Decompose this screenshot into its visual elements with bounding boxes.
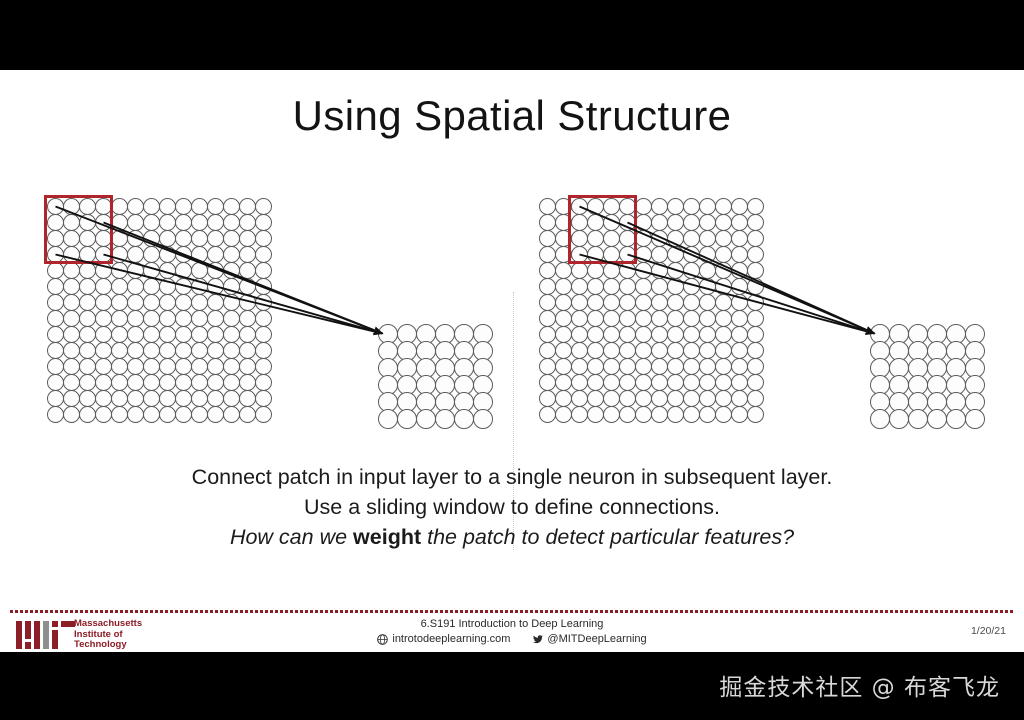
- slide-date: 1/20/21: [971, 625, 1006, 637]
- slide-canvas: Using Spatial Structure Connect patch in…: [0, 70, 1024, 652]
- diagram-area: [0, 180, 1024, 450]
- caption-line-3-post: the patch to detect particular features?: [421, 525, 794, 549]
- connection-arrows: [0, 180, 1024, 450]
- watermark: 掘金技术社区 @ 布客飞龙: [719, 668, 1000, 702]
- connection-arrow: [56, 255, 383, 334]
- globe-icon: [377, 634, 388, 645]
- website-link[interactable]: introtodeeplearning.com: [377, 632, 510, 647]
- connection-arrow: [104, 223, 383, 334]
- slide-footer: Massachusetts Institute of Technology 6.…: [0, 615, 1024, 652]
- course-links: introtodeeplearning.com @MITDeepLearning: [0, 632, 1024, 647]
- page-title: Using Spatial Structure: [0, 92, 1024, 140]
- course-info: 6.S191 Introduction to Deep Learning int…: [0, 617, 1024, 647]
- twitter-link[interactable]: @MITDeepLearning: [532, 632, 646, 647]
- website-label: introtodeeplearning.com: [392, 632, 510, 647]
- course-title: 6.S191 Introduction to Deep Learning: [0, 617, 1024, 632]
- caption-line-1: Connect patch in input layer to a single…: [0, 462, 1024, 492]
- letterbox-top: [0, 0, 1024, 70]
- twitter-label: @MITDeepLearning: [547, 632, 646, 647]
- caption-line-3-bold: weight: [353, 525, 421, 549]
- twitter-icon: [532, 634, 543, 645]
- connection-arrow: [628, 255, 875, 334]
- caption-line-3-pre: How can we: [230, 525, 353, 549]
- footer-divider: [10, 610, 1014, 613]
- connection-arrow: [104, 255, 383, 334]
- caption-block: Connect patch in input layer to a single…: [0, 462, 1024, 552]
- caption-line-3: How can we weight the patch to detect pa…: [0, 522, 1024, 552]
- caption-line-2: Use a sliding window to define connectio…: [0, 492, 1024, 522]
